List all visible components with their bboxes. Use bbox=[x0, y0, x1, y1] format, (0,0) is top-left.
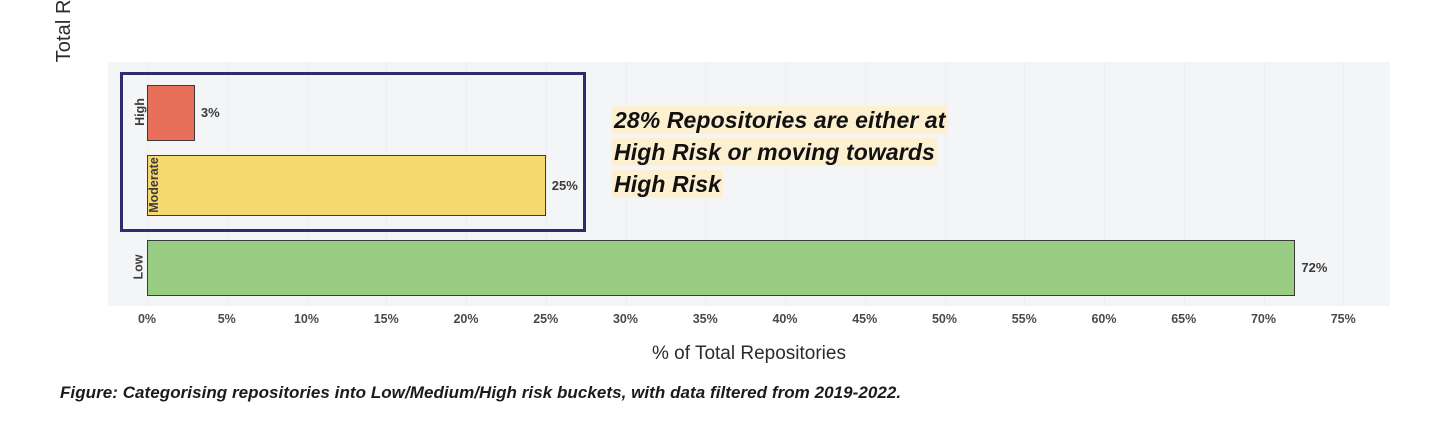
bar-value-label-high: 3% bbox=[201, 105, 220, 120]
gridline bbox=[1343, 62, 1344, 306]
y-axis-title: Total Risk (Buckets) bbox=[47, 0, 81, 96]
y-axis-category-label-moderate: Moderate bbox=[147, 157, 161, 213]
x-axis-tick-5pct: 5% bbox=[218, 312, 236, 326]
x-axis-tick-70pct: 70% bbox=[1251, 312, 1276, 326]
bar-low[interactable] bbox=[147, 240, 1295, 296]
callout-text-line-3: High Risk bbox=[612, 170, 723, 198]
callout-text-line-1: 28% Repositories are either at bbox=[612, 106, 948, 134]
x-axis-tick-25pct: 25% bbox=[533, 312, 558, 326]
x-axis-tick-0pct: 0% bbox=[138, 312, 156, 326]
bar-high[interactable] bbox=[147, 85, 195, 141]
callout-text-line-2: High Risk or moving towards bbox=[612, 138, 937, 166]
bar-value-label-moderate: 25% bbox=[552, 178, 578, 193]
y-axis-category-label-low: Low bbox=[132, 255, 146, 280]
x-axis-tick-60pct: 60% bbox=[1091, 312, 1116, 326]
x-axis-tick-20pct: 20% bbox=[453, 312, 478, 326]
bar-value-label-low: 72% bbox=[1301, 260, 1327, 275]
figure-caption: Figure: Categorising repositories into L… bbox=[60, 383, 901, 403]
x-axis-tick-50pct: 50% bbox=[932, 312, 957, 326]
x-axis-tick-45pct: 45% bbox=[852, 312, 877, 326]
x-axis-tick-40pct: 40% bbox=[772, 312, 797, 326]
x-axis-tick-30pct: 30% bbox=[613, 312, 638, 326]
x-axis-tick-75pct: 75% bbox=[1331, 312, 1356, 326]
y-axis-category-label-high: High bbox=[133, 98, 147, 126]
x-axis-tick-10pct: 10% bbox=[294, 312, 319, 326]
bar-moderate[interactable] bbox=[147, 155, 546, 216]
figure-container: Total Risk (Buckets) 3%High25%Moderate72… bbox=[0, 0, 1430, 442]
callout-text: 28% Repositories are either at High Risk… bbox=[612, 104, 948, 200]
x-axis-tick-15pct: 15% bbox=[374, 312, 399, 326]
x-axis-title: % of Total Repositories bbox=[108, 343, 1390, 365]
x-axis-tick-55pct: 55% bbox=[1012, 312, 1037, 326]
x-axis-tick-35pct: 35% bbox=[693, 312, 718, 326]
x-axis-tick-65pct: 65% bbox=[1171, 312, 1196, 326]
